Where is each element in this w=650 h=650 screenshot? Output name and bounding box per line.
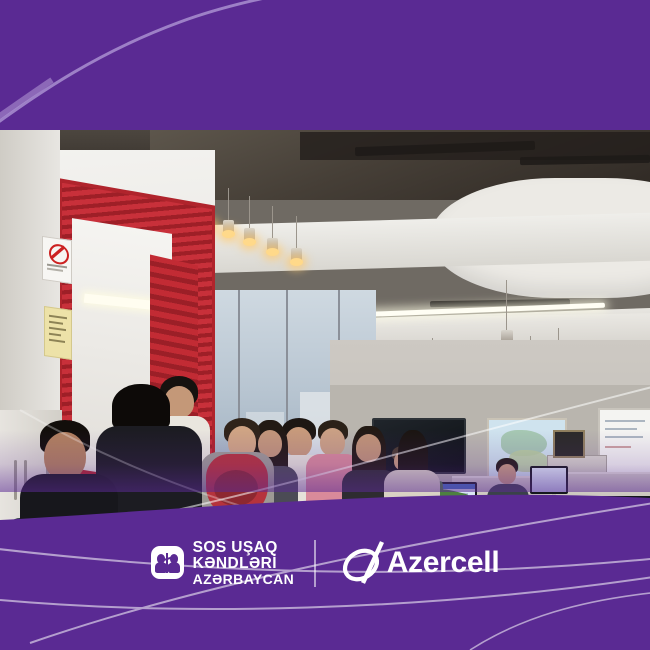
vertical-divider [314, 540, 316, 587]
sos-childrens-villages-logo[interactable]: SOS UŞAQ KƏNDLƏRİ AZƏRBAYCAN [151, 540, 295, 587]
sos-wordmark: SOS UŞAQ KƏNDLƏRİ AZƏRBAYCAN [193, 540, 295, 587]
azercell-wordmark: Azercell [387, 546, 500, 580]
top-purple-header [0, 0, 650, 130]
photo-purple-wash [0, 430, 650, 492]
azercell-logo[interactable]: Azercell [336, 539, 500, 587]
footer-logo-row: SOS UŞAQ KƏNDLƏRİ AZƏRBAYCAN Azercell [0, 488, 650, 650]
sos-line-1: SOS UŞAQ [193, 540, 295, 556]
azercell-swoosh-icon [336, 539, 390, 587]
promo-card: SOS UŞAQ KƏNDLƏRİ AZƏRBAYCAN Azercell [0, 0, 650, 650]
sos-line-3: AZƏRBAYCAN [193, 572, 295, 587]
partner-logos: SOS UŞAQ KƏNDLƏRİ AZƏRBAYCAN Azercell [151, 539, 500, 587]
header-swoosh-icon [0, 0, 650, 130]
sos-childrens-villages-icon [151, 546, 184, 579]
sos-line-2: KƏNDLƏRİ [193, 556, 295, 572]
